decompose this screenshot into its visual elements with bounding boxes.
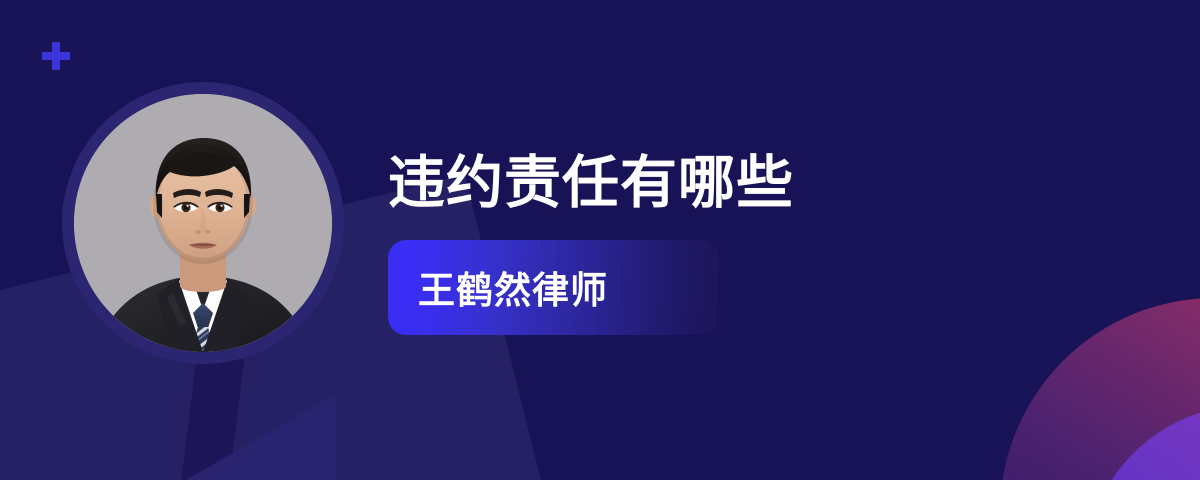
author-badge[interactable]: 王鹤然律师 — [388, 240, 719, 335]
author-badge-label: 王鹤然律师 — [418, 260, 608, 314]
decorative-triangle-middle — [186, 394, 336, 480]
page-title: 违约责任有哪些 — [388, 152, 1008, 216]
text-content: 违约责任有哪些 王鹤然律师 — [388, 152, 1008, 335]
avatar-ring — [62, 82, 344, 364]
avatar — [74, 94, 332, 352]
plus-icon — [42, 42, 70, 70]
lawyer-qa-banner: 违约责任有哪些 王鹤然律师 — [0, 0, 1200, 480]
plus-icon-vertical-bar — [52, 42, 60, 70]
avatar-portrait-illustration — [74, 94, 332, 352]
